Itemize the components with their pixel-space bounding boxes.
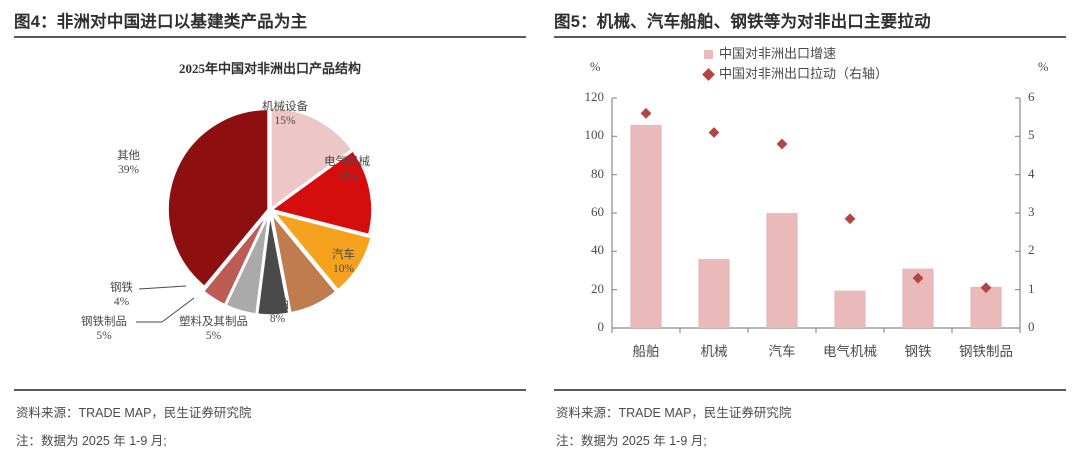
figure-5-footer-rule [554,389,1066,391]
pie-label-steel: 钢铁 4% [110,281,133,310]
pie-label-automobile: 汽车 10% [332,248,355,277]
diamond-marker [845,213,856,224]
left-axis-tick-label: 20 [562,281,604,297]
left-axis-tick-label: 80 [562,166,604,182]
figure-sheet: 图4：非洲对中国进口以基建类产品为主 2025年中国对非洲出口产品结构 机械设备… [0,0,1080,462]
bar [834,291,865,328]
left-axis-tick-label: 120 [562,89,604,105]
pie-label-electrical: 电气机械 14% [324,155,370,184]
figure-4-source: 资料来源：TRADE MAP，民生证券研究院 [16,402,251,421]
bar-chart: 中国对非洲出口增速 中国对非洲出口拉动（右轴） % % 020406080100… [554,40,1066,385]
bar [698,259,729,328]
pie-chart: 机械设备 15% 电气机械 14% 汽车 10% 船舶 8% [14,76,526,376]
figure-5-title: 图5：机械、汽车船舶、钢铁等为对非出口主要拉动 [554,8,1066,32]
right-axis-tick-label: 1 [1028,281,1035,297]
right-axis-tick-label: 4 [1028,166,1035,182]
diamond-marker [709,127,720,138]
pie-label-other: 其他 39% [117,149,140,178]
pie-label-machinery: 机械设备 15% [262,100,308,129]
pie-label-plastics: 塑料及其制品 5% [179,315,248,344]
figure-4-note: 注：数据为 2025 年 1-9 月; [16,430,167,449]
figure-5-title-rule [554,36,1066,38]
left-axis-tick-label: 0 [562,319,604,335]
bar [630,125,661,328]
panel-figure-4: 图4：非洲对中国进口以基建类产品为主 2025年中国对非洲出口产品结构 机械设备… [0,0,540,462]
bar-plot-group [612,98,1020,333]
figure-5-source: 资料来源：TRADE MAP，民生证券研究院 [556,402,791,421]
left-axis-tick-label: 100 [562,127,604,143]
right-axis-tick-label: 3 [1028,204,1035,220]
pie-slice-group [168,108,372,315]
pie-label-ships: 船舶 8% [266,298,289,327]
bar [766,213,797,328]
diamond-marker [777,139,788,150]
panel-figure-5: 图5：机械、汽车船舶、钢铁等为对非出口主要拉动 中国对非洲出口增速 中国对非洲出… [540,0,1080,462]
figure-4-footer-rule [14,389,526,391]
pie-chart-title: 2025年中国对非洲出口产品结构 [14,58,526,77]
right-axis-tick-label: 2 [1028,242,1035,258]
category-label: 钢铁制品 [941,340,1031,360]
left-axis-tick-label: 40 [562,242,604,258]
diamond-marker [641,108,652,119]
figure-4-title: 图4：非洲对中国进口以基建类产品为主 [14,8,526,32]
right-axis-tick-label: 0 [1028,319,1035,335]
figure-4-title-rule [14,36,526,38]
left-axis-tick-label: 60 [562,204,604,220]
bar-chart-svg [554,40,1066,385]
right-axis-tick-label: 5 [1028,127,1035,143]
pie-label-steel-products: 钢铁制品 5% [81,315,127,344]
figure-5-note: 注：数据为 2025 年 1-9 月; [556,430,707,449]
right-axis-tick-label: 6 [1028,89,1035,105]
